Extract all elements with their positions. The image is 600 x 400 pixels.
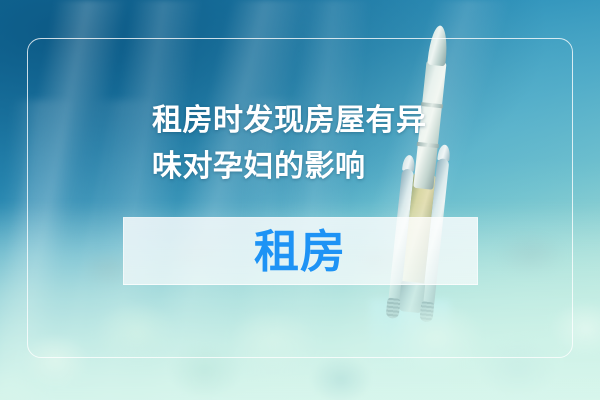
category-tag-label: 租房 [254, 229, 346, 274]
banner-card: 租房时发现房屋有异 味对孕妇的影响 租房 [0, 0, 600, 400]
category-tag-bar[interactable]: 租房 [123, 217, 478, 285]
bottom-haze [0, 0, 600, 400]
page-title: 租房时发现房屋有异 味对孕妇的影响 [152, 98, 482, 190]
